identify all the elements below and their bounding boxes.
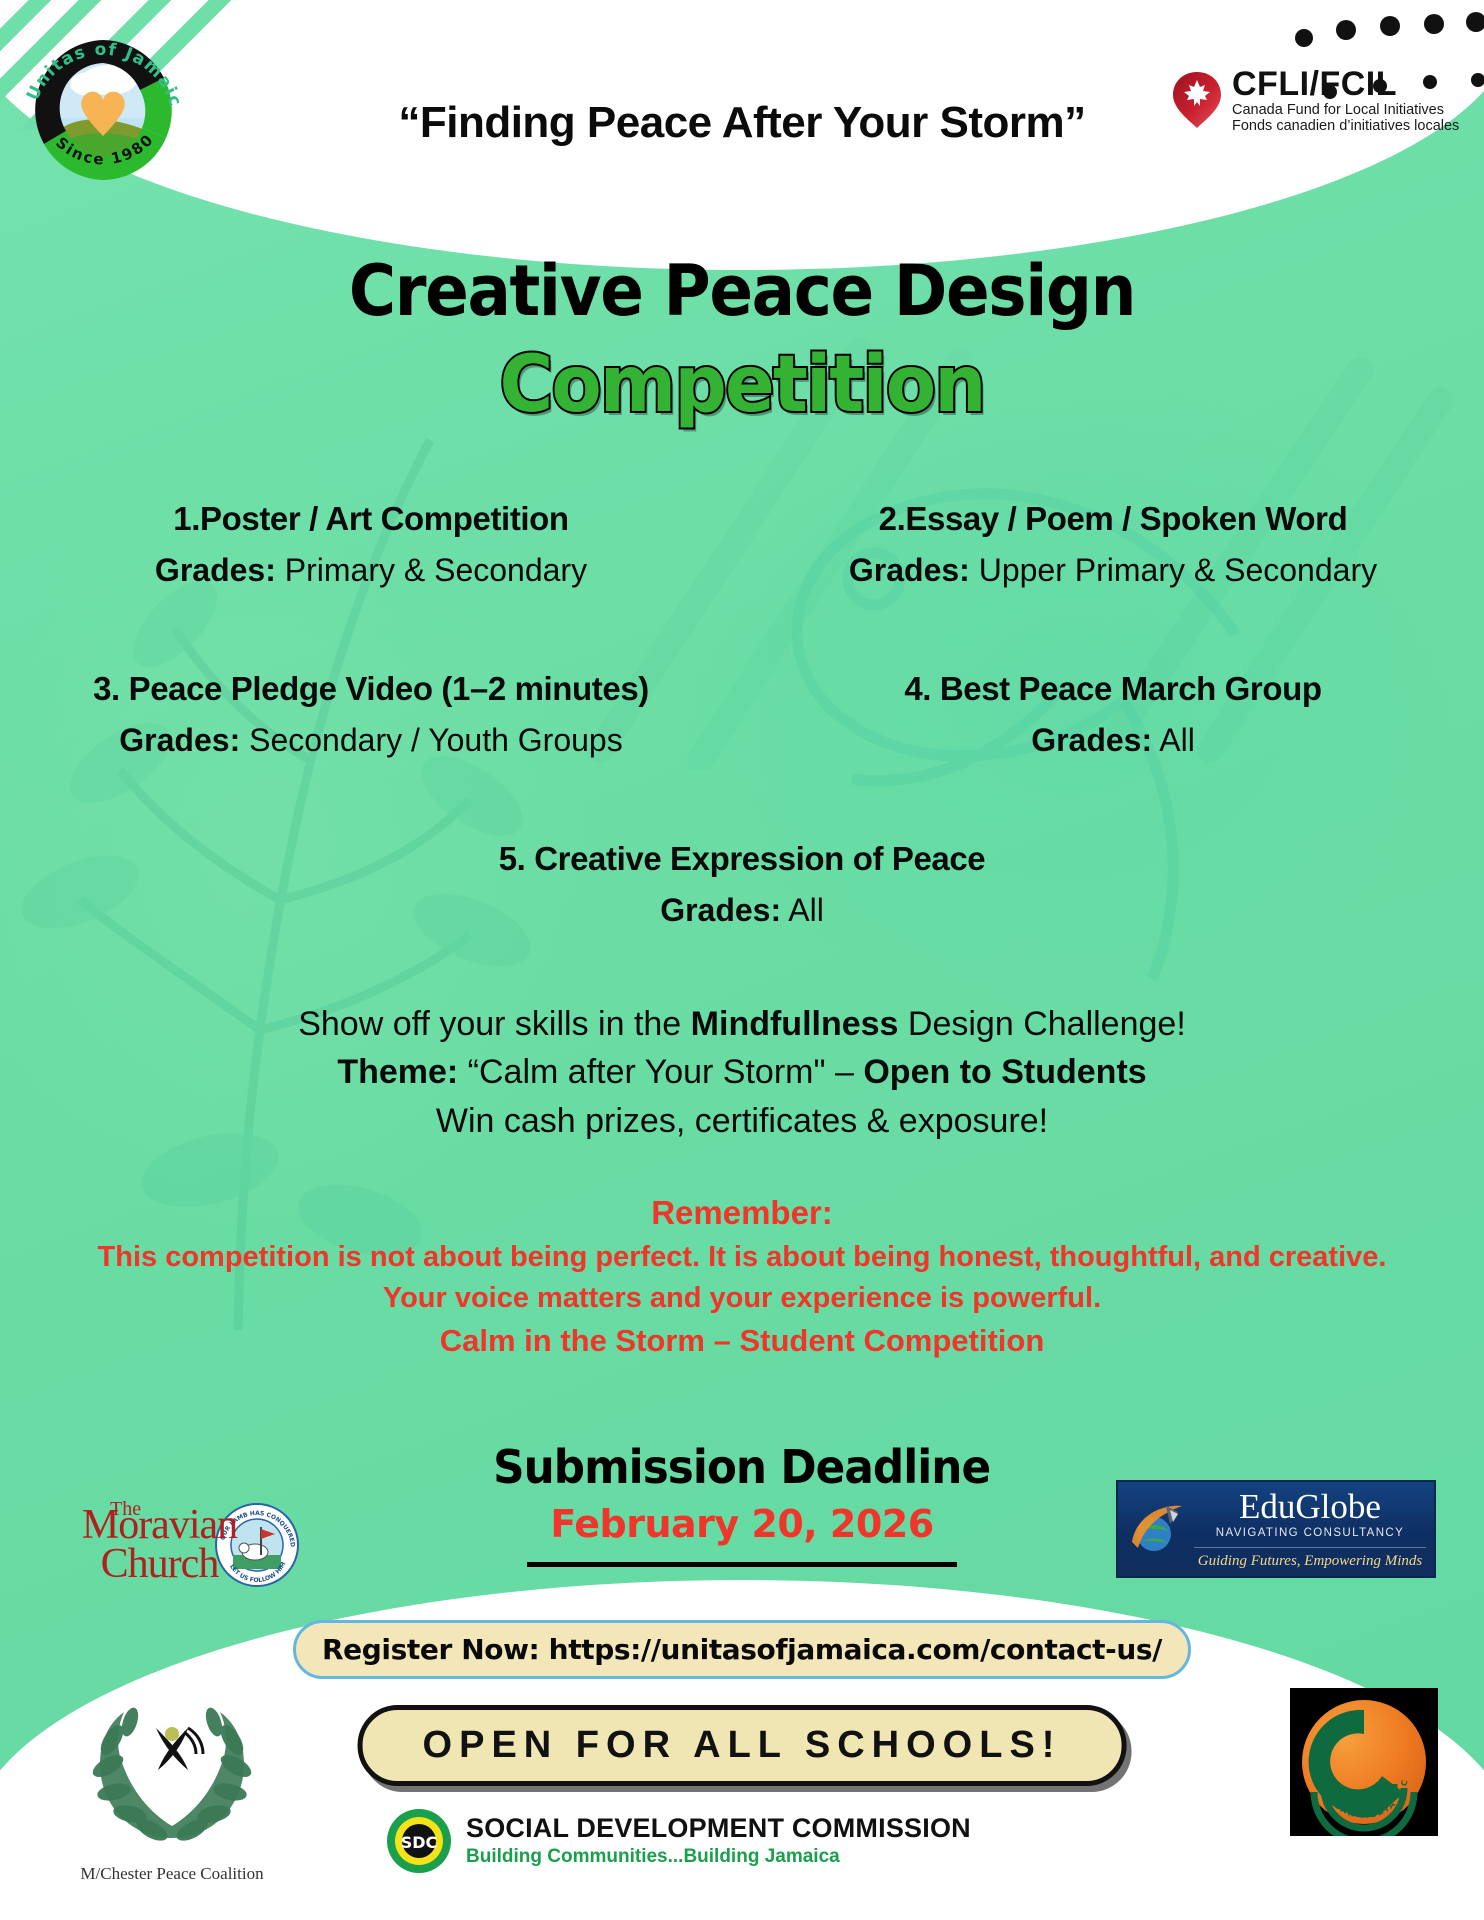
eduglobe-globe-icon [1126, 1498, 1188, 1560]
deadline-underline [527, 1562, 957, 1567]
sdc-name: SOCIAL DEVELOPMENT COMMISSION [466, 1814, 971, 1842]
eduglobe-subtitle: NAVIGATING CONSULTANCY [1194, 1527, 1426, 1539]
desc-line1-pre: Show off your skills in the [298, 1005, 690, 1043]
person-figure-icon [156, 1727, 203, 1770]
canada-maple-pin-icon [1172, 71, 1222, 129]
category-title: 5. Creative Expression of Peace [0, 840, 1484, 878]
mchester-label: M/Chester Peace Coalition [62, 1864, 282, 1884]
sdc-text: SOCIAL DEVELOPMENT COMMISSION Building C… [466, 1814, 971, 1868]
grades-value: All [788, 892, 824, 928]
grades-value: Upper Primary & Secondary [979, 552, 1377, 588]
sdc-logo: SDC SOCIAL DEVELOPMENT COMMISSION Buildi… [386, 1808, 971, 1874]
cfli-logo: CFLI/FCIL Canada Fund for Local Initiati… [1172, 58, 1442, 142]
desc-theme-value: “Calm after Your Storm" – [458, 1053, 863, 1091]
description-line-2: Theme: “Calm after Your Storm" – Open to… [0, 1048, 1484, 1096]
grades-label: Grades: [155, 552, 276, 588]
eduglobe-tagline: Guiding Futures, Empowering Minds [1194, 1547, 1426, 1570]
moravian-the: The [110, 1500, 141, 1518]
mchester-peace-coalition-logo: M/Chester Peace Coalition [62, 1688, 282, 1900]
grades-value: All [1159, 722, 1195, 758]
deadline-label: Submission Deadline [493, 1440, 990, 1494]
remember-block: Remember: This competition is not about … [0, 1190, 1484, 1363]
cfli-acronym: CFLI/FCIL [1232, 67, 1459, 101]
category-item: 2.Essay / Poem / Spoken Word Grades: Upp… [742, 500, 1484, 589]
grades-value: Secondary / Youth Groups [249, 722, 623, 758]
category-title: 4. Best Peace March Group [742, 670, 1484, 708]
category-title: 3. Peace Pledge Video (1–2 minutes) [0, 670, 742, 708]
remember-body: This competition is not about being perf… [0, 1237, 1484, 1278]
cfli-line-fr: Fonds canadien d’initiatives locales [1232, 119, 1459, 134]
sdc-badge-icon: SDC [386, 1808, 452, 1874]
grades-label: Grades: [1031, 722, 1152, 758]
category-grades: Grades: Upper Primary & Secondary [742, 552, 1484, 589]
svg-text:SDC: SDC [401, 1833, 438, 1852]
grades-label: Grades: [660, 892, 781, 928]
moravian-church-logo: The Moravian Church OUR LAMB HAS CONQUER… [72, 1490, 322, 1600]
eduglobe-name: EduGlobe [1194, 1489, 1426, 1524]
description-line-3: Win cash prizes, certificates & exposure… [0, 1097, 1484, 1145]
cfli-line-en: Canada Fund for Local Initiatives [1232, 103, 1459, 118]
desc-theme-label: Theme: [337, 1053, 458, 1091]
category-item: 5. Creative Expression of Peace Grades: … [0, 840, 1484, 929]
moravian-line-1: Moravian [72, 1506, 247, 1545]
carican-c-icon: CARICAN MEDIA & CONSULTING [1290, 1688, 1438, 1836]
category-item: 1.Poster / Art Competition Grades: Prima… [0, 500, 742, 589]
title-sub: Competition [45, 340, 1440, 430]
remember-line-3: Calm in the Storm – Student Competition [0, 1319, 1484, 1363]
category-grades: Grades: Secondary / Youth Groups [0, 722, 742, 759]
category-grades: Grades: Primary & Secondary [0, 552, 742, 589]
sdc-tagline: Building Communities...Building Jamaica [466, 1846, 971, 1868]
moravian-wordmark: The Moravian Church [72, 1506, 247, 1583]
desc-line1-bold: Mindfullness [691, 1005, 899, 1043]
description-line-1: Show off your skills in the Mindfullness… [0, 1000, 1484, 1048]
remember-line-2: Your voice matters and your experience i… [0, 1278, 1484, 1319]
grades-label: Grades: [849, 552, 970, 588]
grades-value: Primary & Secondary [285, 552, 587, 588]
remember-heading: Remember: [0, 1190, 1484, 1237]
category-item: 3. Peace Pledge Video (1–2 minutes) Grad… [0, 670, 742, 759]
moravian-line-2: Church [72, 1545, 247, 1584]
poster-header: Unitas of Jamaica Since 1980 “Finding Pe… [0, 0, 1484, 250]
laurel-wreath-icon [72, 1688, 272, 1858]
eduglobe-text: EduGlobe NAVIGATING CONSULTANCY Guiding … [1194, 1489, 1426, 1570]
desc-line1-post: Design Challenge! [898, 1005, 1185, 1043]
poster-canvas: Unitas of Jamaica Since 1980 “Finding Pe… [0, 0, 1484, 1920]
category-item: 4. Best Peace March Group Grades: All [742, 670, 1484, 759]
category-grades: Grades: All [0, 892, 1484, 929]
carican-media-logo: CARICAN MEDIA & CONSULTING [1290, 1688, 1438, 1836]
register-link-button[interactable]: Register Now: https://unitasofjamaica.co… [293, 1620, 1191, 1679]
desc-open-to: Open to Students [863, 1053, 1146, 1091]
title-main: Creative Peace Design [59, 250, 1424, 332]
open-for-all-schools-banner[interactable]: OPEN FOR ALL SCHOOLS! [358, 1705, 1127, 1786]
grades-label: Grades: [119, 722, 240, 758]
category-title: 2.Essay / Poem / Spoken Word [742, 500, 1484, 538]
eduglobe-logo: EduGlobe NAVIGATING CONSULTANCY Guiding … [1116, 1480, 1436, 1578]
description-block: Show off your skills in the Mindfullness… [0, 1000, 1484, 1145]
category-title: 1.Poster / Art Competition [0, 500, 742, 538]
category-grades: Grades: All [742, 722, 1484, 759]
